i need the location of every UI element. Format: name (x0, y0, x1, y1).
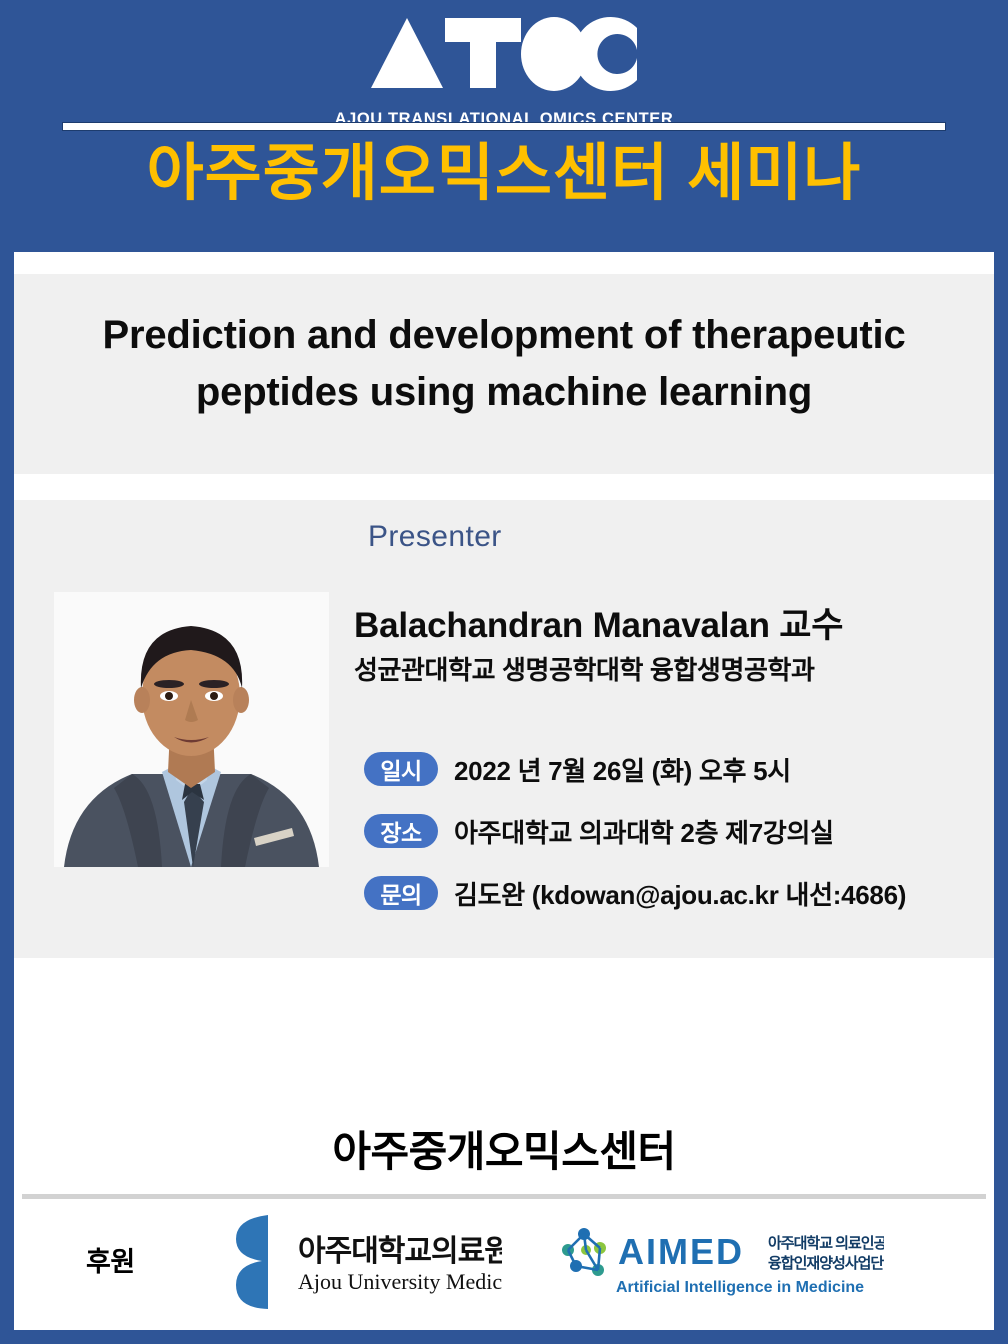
talk-title-line-2: peptides using machine learning (54, 364, 954, 421)
detail-row-date: 일시 2022 년 7월 26일 (화) 오후 5시 (364, 742, 964, 796)
sponsor-row: 후원 아주대학교의료원 Ajou University Medical Cent… (14, 1212, 994, 1322)
svg-text:AIMED: AIMED (618, 1231, 744, 1272)
detail-value-place: 아주대학교 의과대학 2층 제7강의실 (454, 813, 834, 850)
ajou-medical-center-logo-icon: 아주대학교의료원 Ajou University Medical Center (222, 1209, 502, 1314)
header-divider (62, 122, 946, 131)
sponsor-label: 후원 (86, 1240, 135, 1279)
svg-text:Artificial Intelligence in Med: Artificial Intelligence in Medicine (616, 1279, 864, 1296)
detail-value-contact: 김도완 (kdowan@ajou.ac.kr 내선:4686) (454, 875, 906, 912)
sponsor-logo-ajou-medical-center: 아주대학교의료원 Ajou University Medical Center (222, 1209, 502, 1314)
atoc-logo-icon (369, 14, 639, 96)
presenter-affiliation: 성균관대학교 생명공학대학 융합생명공학과 (354, 650, 954, 687)
talk-title: Prediction and development of therapeuti… (54, 307, 954, 421)
organizer-name: 아주중개오믹스센터 (14, 1118, 994, 1179)
svg-text:융합인재양성사업단: 융합인재양성사업단 (768, 1254, 884, 1272)
presenter-photo (54, 592, 329, 867)
seminar-poster: AJOU TRANSLATIONAL OMICS CENTER 아주중개오믹스센… (0, 0, 1008, 1344)
aimed-logo-icon: AIMED 아주대학교 의료인공지능 융합인재양성사업단 Artificial … (554, 1220, 884, 1312)
talk-title-line-1: Prediction and development of therapeuti… (54, 307, 954, 364)
svg-text:Ajou University Medical Center: Ajou University Medical Center (298, 1269, 502, 1294)
footer-divider (22, 1194, 986, 1199)
detail-value-date: 2022 년 7월 26일 (화) 오후 5시 (454, 751, 791, 788)
detail-rows: 일시 2022 년 7월 26일 (화) 오후 5시 장소 아주대학교 의과대학… (364, 742, 964, 928)
sponsor-logo-aimed: AIMED 아주대학교 의료인공지능 융합인재양성사업단 Artificial … (554, 1220, 884, 1312)
svg-text:아주대학교의료원: 아주대학교의료원 (298, 1235, 502, 1268)
poster-header: AJOU TRANSLATIONAL OMICS CENTER 아주중개오믹스센… (0, 0, 1008, 252)
atoc-logo-mark (369, 14, 639, 96)
presenter-portrait-image (54, 592, 329, 867)
poster-body: Prediction and development of therapeuti… (14, 252, 994, 1330)
badge-date: 일시 (364, 752, 438, 786)
badge-contact: 문의 (364, 876, 438, 910)
svg-text:아주대학교 의료인공지능: 아주대학교 의료인공지능 (768, 1234, 884, 1252)
detail-row-place: 장소 아주대학교 의과대학 2층 제7강의실 (364, 804, 964, 858)
badge-place: 장소 (364, 814, 438, 848)
atoc-logo: AJOU TRANSLATIONAL OMICS CENTER (0, 14, 1008, 119)
detail-row-contact: 문의 김도완 (kdowan@ajou.ac.kr 내선:4686) (364, 866, 964, 920)
presenter-label: Presenter (368, 520, 502, 554)
presenter-name: Balachandran Manavalan 교수 (354, 597, 954, 648)
poster-header-title: 아주중개오믹스센터 세미나 (0, 140, 1008, 208)
